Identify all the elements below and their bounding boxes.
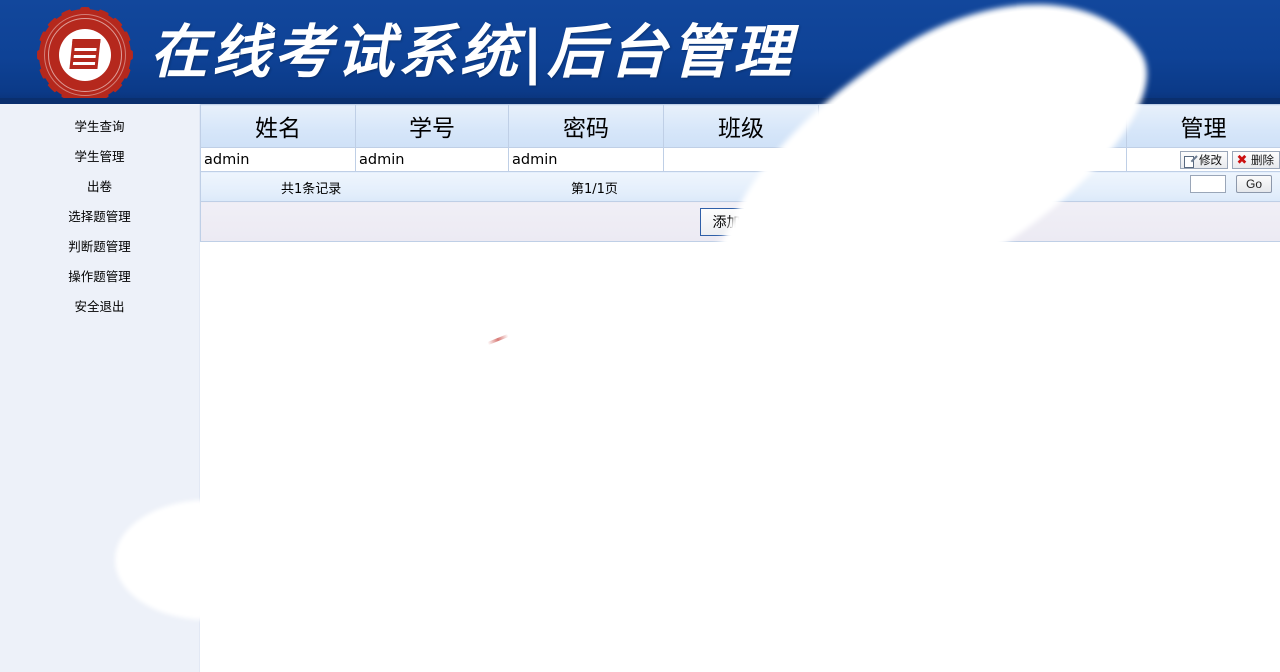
book-icon [69, 39, 100, 69]
cell-extra [972, 148, 1127, 172]
sidebar-item-operation-question-manage[interactable]: 操作题管理 [0, 270, 199, 284]
edit-icon [1184, 155, 1196, 167]
spacer [0, 164, 199, 180]
site-banner: 在线考试系统|后台管理 [0, 0, 1280, 104]
page-info-label: 第1/1页 [571, 178, 618, 197]
add-user-button[interactable]: 添加用户 [700, 208, 782, 236]
seal-disc [41, 11, 129, 99]
cell-student-id: admin [356, 148, 509, 172]
main-content: 姓名 学号 密码 班级 期末考试 管理 admin admin admin 0.… [200, 104, 1280, 672]
edit-button[interactable]: 修改 [1180, 151, 1228, 169]
user-table: 姓名 学号 密码 班级 期末考试 管理 admin admin admin 0.… [200, 104, 1280, 242]
goto-page-input[interactable] [1190, 175, 1226, 193]
spacer [0, 224, 199, 240]
sidebar-nav: 学生查询 学生管理 出卷 选择题管理 判断题管理 操作题管理 安全退出 [0, 104, 200, 672]
spacer [0, 134, 199, 150]
sidebar-item-create-paper[interactable]: 出卷 [0, 180, 199, 194]
edit-button-label: 修改 [1199, 153, 1222, 167]
delete-button[interactable]: ✖删除 [1232, 151, 1280, 169]
delete-icon: ✖ [1236, 155, 1248, 167]
goto-page-group: Go [1190, 175, 1272, 193]
column-header-password: 密码 [509, 105, 664, 148]
column-header-name: 姓名 [201, 105, 356, 148]
page-root: 在线考试系统|后台管理 学生查询 学生管理 出卷 选择题管理 判断题管理 操作题… [0, 0, 1280, 672]
pagination-links: |< << >> [766, 177, 834, 193]
record-count-label: 共1条记录 [281, 178, 341, 197]
delete-button-label: 删除 [1251, 153, 1274, 167]
column-header-class: 班级 [664, 105, 819, 148]
column-header-extra [972, 105, 1127, 148]
column-header-manage: 管理 [1127, 105, 1280, 148]
sidebar-item-choice-question-manage[interactable]: 选择题管理 [0, 210, 199, 224]
cell-final-exam: 0.0 [819, 148, 972, 172]
cell-class [664, 148, 819, 172]
page-title: 在线考试系统|后台管理 [150, 10, 795, 94]
table-footer-cell: 添加用户 [201, 202, 1280, 242]
table-footer-row: 添加用户 [201, 202, 1280, 242]
cell-manage: 修改✖删除 [1127, 148, 1280, 172]
next-page-link[interactable]: >> [812, 177, 827, 192]
spacer [0, 194, 199, 210]
cell-password: admin [509, 148, 664, 172]
table-header-row: 姓名 学号 密码 班级 期末考试 管理 [201, 105, 1280, 148]
prev-page-link[interactable]: << [787, 177, 802, 192]
table-body: admin admin admin 0.0 修改✖删除 共1条记录 第1/1页 [201, 148, 1280, 242]
table-row: admin admin admin 0.0 修改✖删除 [201, 148, 1280, 172]
pagination-cell: 共1条记录 第1/1页 |< << >> Go [201, 172, 1280, 202]
pagination-bar: 共1条记录 第1/1页 |< << >> Go [201, 172, 1280, 201]
column-header-final-exam: 期末考试 [819, 105, 972, 148]
first-page-link[interactable]: |< [766, 177, 777, 192]
pagination-row: 共1条记录 第1/1页 |< << >> Go [201, 172, 1280, 202]
cell-name: admin [201, 148, 356, 172]
sidebar-item-logout[interactable]: 安全退出 [0, 300, 199, 314]
sidebar-item-student-query[interactable]: 学生查询 [0, 120, 199, 134]
go-button[interactable]: Go [1236, 175, 1272, 193]
seal-inner-circle [59, 29, 111, 81]
seal-logo [33, 9, 137, 101]
table-head: 姓名 学号 密码 班级 期末考试 管理 [201, 105, 1280, 148]
sidebar-item-judgement-question-manage[interactable]: 判断题管理 [0, 240, 199, 254]
column-header-student-id: 学号 [356, 105, 509, 148]
spacer [0, 254, 199, 270]
sidebar-item-student-manage[interactable]: 学生管理 [0, 150, 199, 164]
spacer [0, 284, 199, 300]
